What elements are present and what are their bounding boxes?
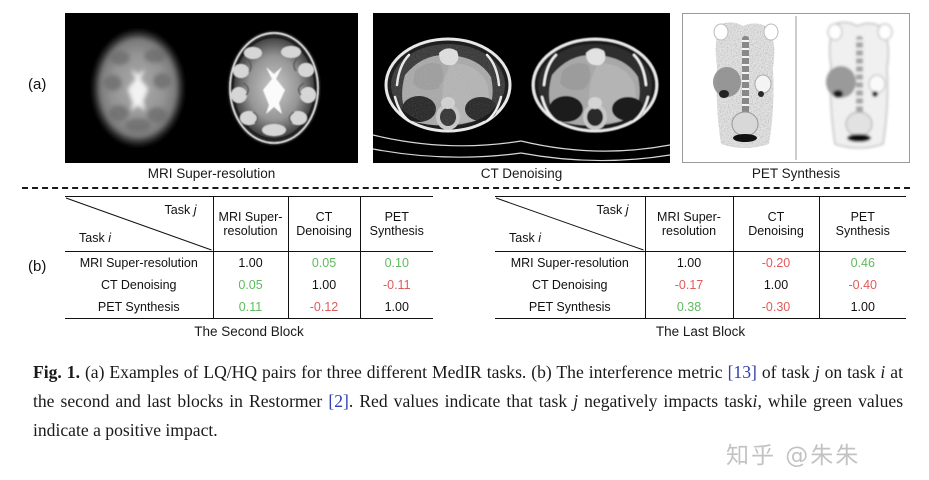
row-label: CT Denoising (495, 274, 645, 296)
cell-value: -0.30 (733, 296, 819, 319)
cell-value: 1.00 (733, 274, 819, 296)
panel-label-a: (a) (28, 76, 46, 93)
row-label: PET Synthesis (495, 296, 645, 319)
ct-scan-pair (373, 13, 670, 163)
caption-part-b2: of task (762, 362, 810, 382)
symbol-task-j-2: j (573, 391, 578, 411)
table-row: MRI Super-resolution 1.00 0.05 0.10 (65, 252, 433, 275)
table-header-row: Task j Task i MRI Super- resolution CT D… (65, 197, 433, 252)
column-header-ct: CT Denoising (288, 197, 360, 252)
corner-header-cell: Task j Task i (65, 197, 213, 252)
ct-panel-caption: CT Denoising (373, 166, 670, 181)
mri-scan-pair (65, 13, 358, 163)
caption-part-a: (a) Examples of LQ/HQ pairs for three di… (85, 362, 526, 382)
cell-value: 1.00 (819, 296, 906, 319)
table-row: CT Denoising 0.05 1.00 -0.11 (65, 274, 433, 296)
row-label: PET Synthesis (65, 296, 213, 319)
cell-value: 0.11 (213, 296, 288, 319)
pet-scan-pair (683, 14, 909, 162)
column-header-ct: CT Denoising (733, 197, 819, 252)
mri-image-panel (65, 13, 358, 163)
cell-value: 1.00 (360, 296, 433, 319)
corner-row-label: Task i (509, 231, 541, 245)
mri-panel-caption: MRI Super-resolution (65, 166, 358, 181)
cell-value: -0.20 (733, 252, 819, 275)
row-label: CT Denoising (65, 274, 213, 296)
table-row: PET Synthesis 0.11 -0.12 1.00 (65, 296, 433, 319)
cell-value: 0.46 (819, 252, 906, 275)
cell-value: 0.38 (645, 296, 733, 319)
interference-matrix-last-block: Task j Task i MRI Super- resolution CT D… (495, 196, 906, 319)
row-label: MRI Super-resolution (65, 252, 213, 275)
cell-value: 1.00 (645, 252, 733, 275)
citation-13[interactable]: [13] (728, 362, 757, 382)
section-divider (22, 187, 910, 189)
caption-part-c1: Red values indicate that task (359, 391, 567, 411)
table-header-row: Task j Task i MRI Super- resolution CT D… (495, 197, 906, 252)
second-block-caption: The Second Block (65, 324, 433, 339)
figure-caption-label: Fig. 1. (33, 362, 80, 382)
column-header-pet: PET Synthesis (360, 197, 433, 252)
column-header-pet: PET Synthesis (819, 197, 906, 252)
interference-matrix-second-block: Task j Task i MRI Super- resolution CT D… (65, 196, 433, 319)
cell-value: -0.11 (360, 274, 433, 296)
cell-value: 1.00 (213, 252, 288, 275)
corner-row-label: Task i (79, 231, 111, 245)
caption-part-c2: negatively impacts task (584, 391, 752, 411)
table-row: CT Denoising -0.17 1.00 -0.40 (495, 274, 906, 296)
figure-page: (a) (0, 0, 929, 480)
caption-part-b3: on task (825, 362, 876, 382)
pet-panel-caption: PET Synthesis (682, 166, 910, 181)
table-row: PET Synthesis 0.38 -0.30 1.00 (495, 296, 906, 319)
corner-col-label: Task j (597, 203, 629, 217)
corner-col-label: Task j (165, 203, 197, 217)
cell-value: -0.12 (288, 296, 360, 319)
column-header-mri: MRI Super- resolution (645, 197, 733, 252)
cell-value: -0.17 (645, 274, 733, 296)
last-block-caption: The Last Block (495, 324, 906, 339)
column-header-mri: MRI Super- resolution (213, 197, 288, 252)
pet-image-panel (682, 13, 910, 163)
cell-value: 1.00 (288, 274, 360, 296)
symbol-task-j: j (815, 362, 820, 382)
symbol-task-i: i (880, 362, 885, 382)
row-label: MRI Super-resolution (495, 252, 645, 275)
cell-value: 0.05 (288, 252, 360, 275)
ct-image-panel (373, 13, 670, 163)
cell-value: 0.05 (213, 274, 288, 296)
cell-value: -0.40 (819, 274, 906, 296)
cell-value: 0.10 (360, 252, 433, 275)
panel-label-b: (b) (28, 258, 46, 275)
caption-part-b5: . (349, 391, 353, 411)
citation-2[interactable]: [2] (328, 391, 349, 411)
table-row: MRI Super-resolution 1.00 -0.20 0.46 (495, 252, 906, 275)
caption-part-b1: (b) The interference metric (531, 362, 722, 382)
panel-a-images: (a) (0, 0, 929, 185)
corner-header-cell: Task j Task i (495, 197, 645, 252)
figure-caption: Fig. 1. (a) Examples of LQ/HQ pairs for … (33, 358, 903, 445)
